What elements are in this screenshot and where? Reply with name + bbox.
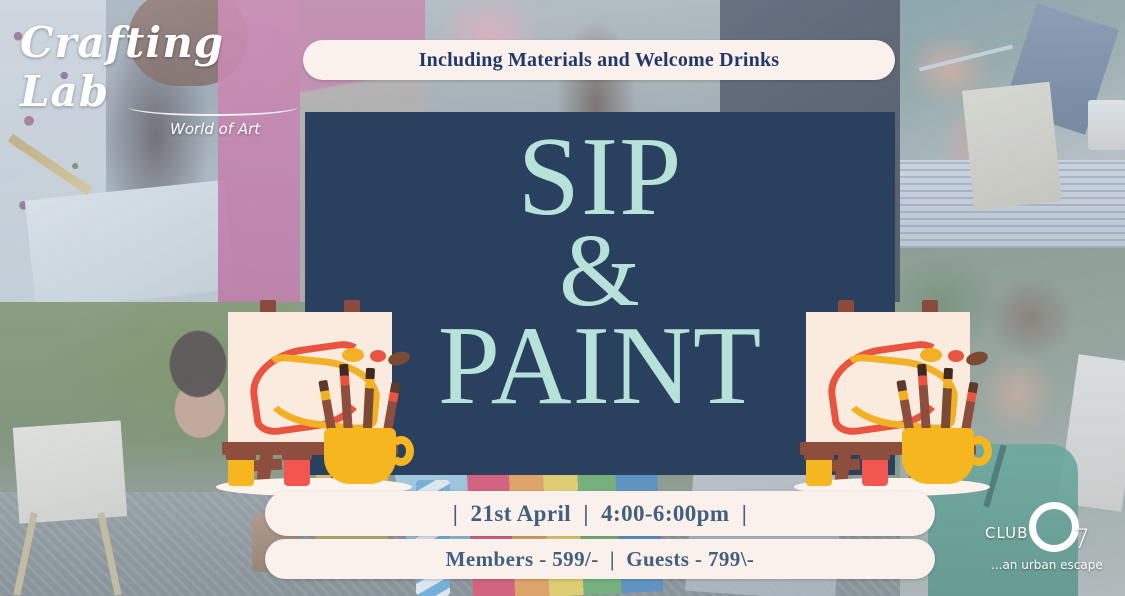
photo-hands-painting [900,0,1125,248]
event-poster: SIP & PAINT [0,0,1125,596]
photo-detail-easel-left [10,424,130,574]
club-o7-logo: CLUB 7 ...an urban escape [985,500,1111,580]
paint-pot-red [862,456,888,486]
photo-detail-paper-sheet [1058,354,1125,511]
easel-illustration-left [222,300,398,480]
paint-brushes [898,358,984,438]
logo-tagline-text: World of Art [170,120,300,138]
schedule-text: | 21st April | 4:00-6:00pm | [453,501,747,527]
easel-illustration-right [800,300,976,480]
photo-detail-canvas [962,82,1062,211]
club-seven-text: 7 [1073,524,1090,555]
paint-pot-yellow [228,456,254,486]
club-word-text: CLUB [985,524,1028,542]
photo-detail-blue-board [1003,3,1119,134]
crafting-lab-logo: Crafting Lab World of Art [20,18,300,108]
materials-banner: Including Materials and Welcome Drinks [303,40,895,80]
paint-pot-yellow [806,456,832,486]
photo-detail-paper [25,180,235,302]
schedule-banner: | 21st April | 4:00-6:00pm | [265,491,935,536]
pricing-banner: Members - 599/- | Guests - 799\- [265,539,935,579]
photo-detail-brush [919,44,1013,71]
club-o-ring-icon [1029,502,1079,552]
materials-banner-text: Including Materials and Welcome Drinks [419,49,780,72]
coffee-mug [902,428,974,484]
photo-detail-pencil [8,134,93,195]
logo-swoosh-icon [128,98,298,116]
photo-detail-newspaper [900,160,1125,248]
club-tagline-text: ...an urban escape [991,558,1103,572]
coffee-mug [324,428,396,484]
paint-pot-red [284,456,310,486]
photo-detail-paint-cup [1088,100,1125,150]
pricing-text: Members - 599/- | Guests - 799\- [446,547,755,572]
paint-brushes [320,358,406,438]
